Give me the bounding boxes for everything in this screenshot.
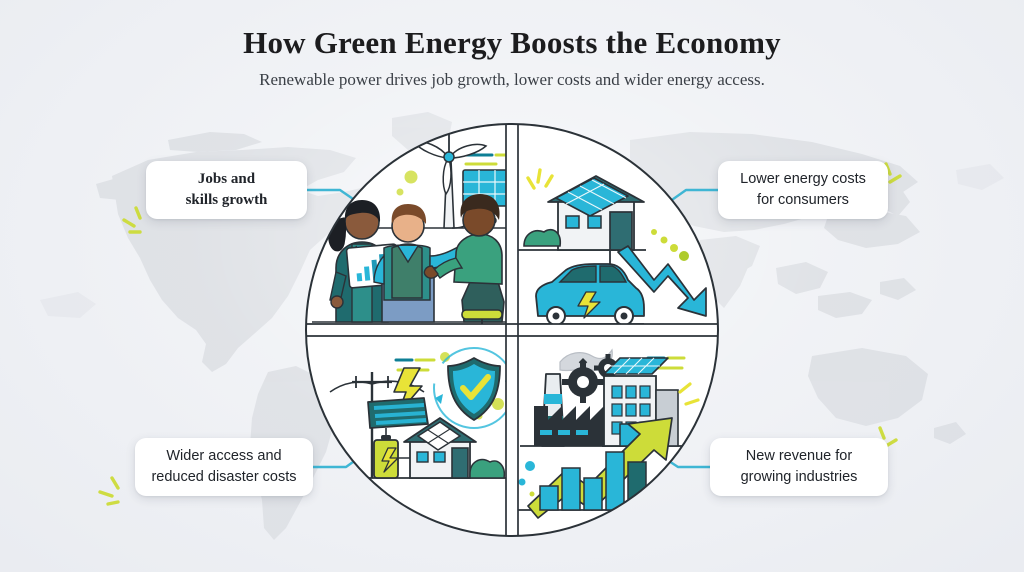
page-title: How Green Energy Boosts the Economy	[0, 24, 1024, 61]
label-text: Jobs and skills growth	[186, 169, 268, 212]
infographic-canvas: How Green Energy Boosts the Economy Rene…	[0, 0, 1024, 572]
label-new-revenue[interactable]: New revenue for growing industries	[710, 438, 888, 496]
label-text: Wider access and reduced disaster costs	[151, 446, 296, 487]
page-subtitle: Renewable power drives job growth, lower…	[0, 70, 1024, 90]
label-wider-access[interactable]: Wider access and reduced disaster costs	[135, 438, 313, 496]
label-text: Lower energy costs for consumers	[740, 169, 866, 210]
header: How Green Energy Boosts the Economy Rene…	[0, 24, 1024, 91]
label-lower-energy-costs[interactable]: Lower energy costs for consumers	[718, 161, 888, 219]
label-jobs-and-skills-growth[interactable]: Jobs and skills growth	[146, 161, 307, 219]
label-text: New revenue for growing industries	[741, 446, 858, 487]
